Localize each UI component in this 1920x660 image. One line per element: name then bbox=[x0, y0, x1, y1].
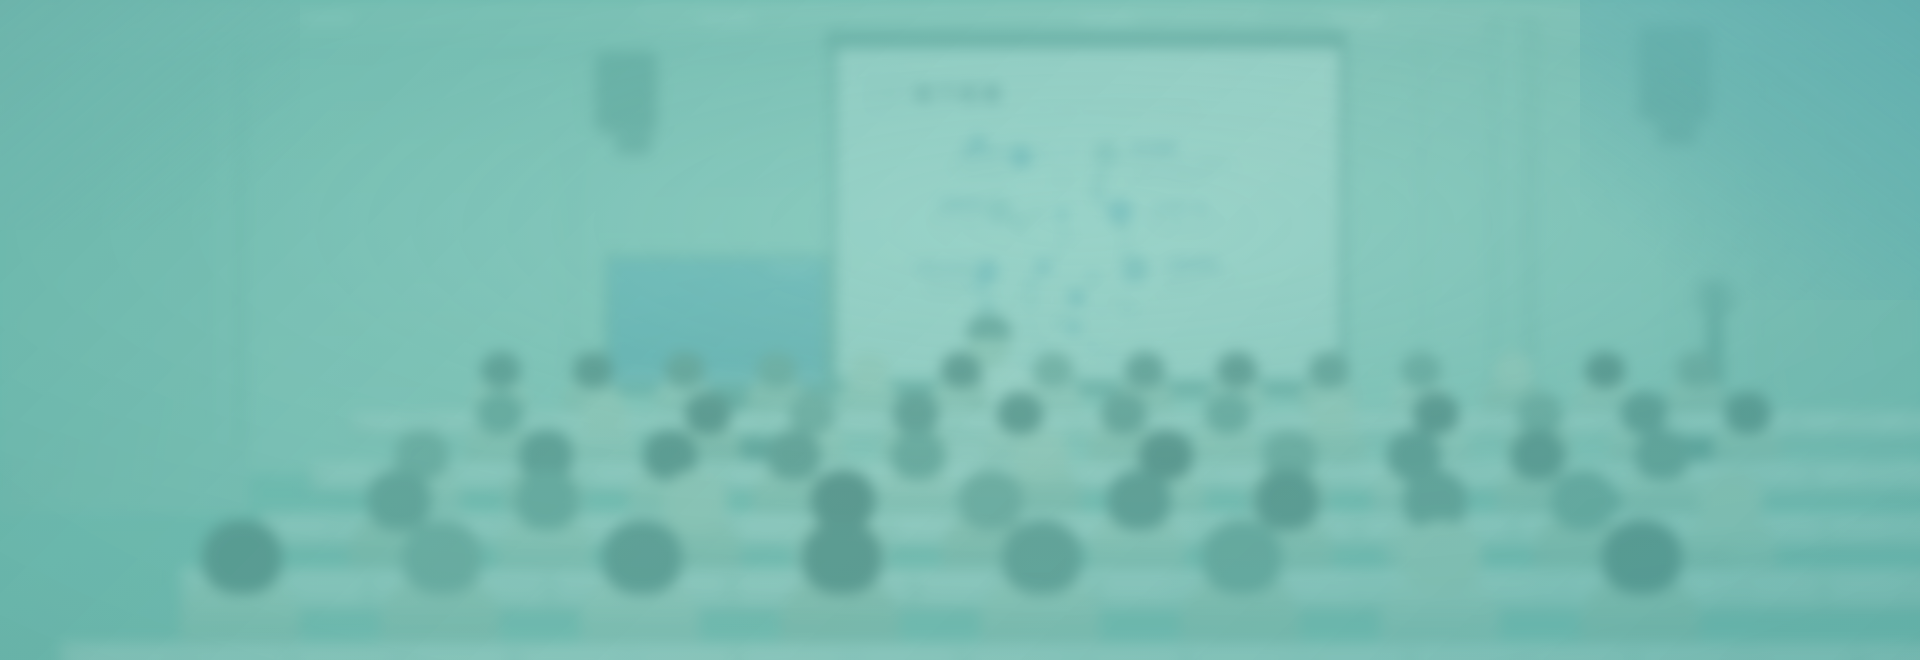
cluster-dot bbox=[1062, 279, 1065, 282]
audience-member bbox=[380, 520, 500, 660]
audience-member bbox=[1580, 520, 1700, 660]
speaker-mount bbox=[1658, 114, 1696, 142]
presentation-slide: 1.0 线下拓客 OFFLINE CUSTOMER EXPANSION 团队合作… bbox=[836, 48, 1340, 380]
cluster-dot bbox=[1097, 171, 1100, 174]
slide-item-4: 异业联盟1、全店打折赠体验卡、免费洗脸体验 2、服装、美甲、咖啡店、蛋糕店、母 … bbox=[1132, 140, 1250, 187]
audience-head bbox=[941, 352, 981, 388]
wall-pillar bbox=[208, 40, 244, 440]
ceiling-light bbox=[700, 16, 754, 23]
audience-head bbox=[1621, 392, 1667, 434]
audience-member bbox=[1380, 520, 1500, 660]
audience-head bbox=[1602, 520, 1682, 594]
audience-head bbox=[1125, 352, 1165, 388]
audience-head bbox=[1002, 520, 1082, 594]
cluster-dot bbox=[1123, 271, 1135, 283]
slide-item-desc: 与异业商家合作引流， 互相导流共享客源 bbox=[888, 162, 1006, 182]
audience-head bbox=[1309, 352, 1349, 388]
slide-bubble-4: 4 bbox=[1094, 142, 1118, 166]
cluster-dot bbox=[1066, 319, 1081, 334]
cluster-dot bbox=[978, 279, 989, 290]
cluster-dot bbox=[1122, 201, 1135, 214]
cluster-dot bbox=[1066, 148, 1072, 154]
slide-title: 线下拓客 bbox=[913, 78, 1005, 107]
audience-head bbox=[802, 520, 882, 594]
audience-head bbox=[602, 520, 682, 594]
cluster-dot bbox=[1141, 267, 1145, 271]
audience-head bbox=[1585, 352, 1625, 388]
cluster-dot bbox=[995, 226, 998, 229]
audience-head bbox=[1101, 392, 1147, 434]
cluster-dot bbox=[1016, 300, 1019, 303]
audience-head bbox=[1202, 520, 1282, 594]
desk-emblem bbox=[1716, 574, 1754, 612]
audience-member bbox=[980, 520, 1100, 660]
cluster-dot bbox=[1040, 150, 1050, 160]
slide-item-title: 免费祛斑 bbox=[866, 196, 984, 211]
cluster-dot bbox=[1117, 223, 1131, 237]
cluster-dot bbox=[1099, 309, 1104, 314]
ceiling-light bbox=[1330, 16, 1384, 23]
audience-head bbox=[573, 352, 613, 388]
cluster-dot bbox=[1045, 285, 1050, 290]
cluster-dot bbox=[984, 262, 989, 267]
audience-head bbox=[1725, 392, 1771, 434]
audience-head bbox=[685, 392, 731, 434]
cluster-dot bbox=[1019, 224, 1028, 233]
slide-item-5: 公交车广告线下广告宣传，公交车站广告 性价比最高的宣传方式 bbox=[1152, 200, 1270, 238]
cluster-dot bbox=[1129, 243, 1132, 246]
speaker-icon bbox=[596, 52, 656, 130]
slide-item-title: 公交车广告 bbox=[1152, 200, 1270, 215]
cluster-dot bbox=[1065, 182, 1068, 185]
cluster-dot bbox=[1025, 278, 1037, 290]
slide-item-desc: 派发社区大礼包， 精准锁定周边客户 bbox=[854, 278, 972, 298]
audience-member bbox=[580, 520, 700, 660]
audience-head bbox=[1677, 352, 1717, 388]
cluster-dot bbox=[1052, 251, 1059, 258]
cluster-dot bbox=[991, 147, 1001, 157]
cluster-dot bbox=[1035, 259, 1051, 275]
cluster-dot bbox=[1119, 154, 1129, 164]
cluster-dot bbox=[1133, 303, 1139, 309]
slide-number: 1.0 bbox=[866, 74, 902, 110]
slide-item-6: 大量加微信创造机会，添加客户微信， 善用可视营销 bbox=[1164, 256, 1282, 294]
slide-item-3: 团队合作与异业商家合作引流， 互相导流共享客源 bbox=[888, 144, 1006, 182]
audience-head bbox=[1402, 520, 1482, 594]
cluster-dot bbox=[1093, 210, 1096, 213]
slide-item-title: 团队合作 bbox=[888, 144, 1006, 159]
cluster-dot bbox=[1044, 320, 1048, 324]
audience-head bbox=[1401, 352, 1441, 388]
audience-head bbox=[481, 352, 521, 388]
cluster-dot bbox=[1025, 295, 1037, 307]
slide-item-title: 社区大礼包 bbox=[854, 260, 972, 275]
cluster-dot bbox=[1090, 309, 1093, 312]
slide-header: 1.0 线下拓客 bbox=[866, 74, 1005, 110]
cluster-dot bbox=[969, 210, 973, 214]
cluster-dot bbox=[1069, 232, 1075, 238]
cluster-dot bbox=[1056, 211, 1065, 220]
speaker-mount bbox=[616, 126, 650, 152]
slide-item-title: 异业联盟 bbox=[1132, 140, 1250, 155]
slide-item-desc: 创造机会，添加客户微信， 善用可视营销 bbox=[1164, 274, 1282, 294]
cluster-dot bbox=[1139, 342, 1148, 351]
cluster-dot bbox=[978, 268, 982, 272]
audience-head bbox=[1217, 352, 1257, 388]
cluster-dot bbox=[1028, 241, 1035, 248]
desk-emblem bbox=[1887, 514, 1920, 552]
cluster-dot bbox=[1112, 298, 1120, 306]
tv-brand-logo bbox=[770, 266, 814, 271]
audience-head bbox=[1413, 392, 1459, 434]
slide-item-desc: 线下广告宣传，公交车站广告 性价比最高的宣传方式 bbox=[1152, 218, 1270, 238]
cluster-dot bbox=[1087, 272, 1098, 283]
cluster-dot bbox=[1102, 319, 1105, 322]
cluster-dot bbox=[1119, 296, 1123, 300]
audience-head bbox=[581, 392, 627, 434]
audience-head bbox=[1517, 392, 1563, 434]
room-photograph: 1.0 线下拓客 OFFLINE CUSTOMER EXPANSION 团队合作… bbox=[0, 0, 1920, 660]
audience-head bbox=[757, 352, 797, 388]
slide-item-1: 社区大礼包派发社区大礼包， 精准锁定周边客户 bbox=[854, 260, 972, 298]
cluster-dot bbox=[1054, 316, 1065, 327]
cluster-dot bbox=[1103, 291, 1109, 297]
audience-head bbox=[893, 392, 939, 434]
cluster-dot bbox=[1135, 312, 1139, 316]
cluster-dot bbox=[1067, 200, 1070, 203]
cluster-dot bbox=[1068, 289, 1085, 306]
desk-panel bbox=[1866, 650, 1920, 660]
slide-item-2: 免费祛斑免费体验项目引流， 到店转化 bbox=[866, 196, 984, 234]
audience-head bbox=[1033, 352, 1073, 388]
cluster-dot bbox=[1088, 342, 1097, 351]
audience-member bbox=[1180, 520, 1300, 660]
desk-emblem bbox=[1839, 408, 1877, 446]
audience-head bbox=[849, 352, 889, 388]
seminar-photo-scene: 1.0 线下拓客 OFFLINE CUSTOMER EXPANSION 团队合作… bbox=[0, 0, 1920, 660]
presenter-hair bbox=[966, 315, 1012, 339]
audience-head bbox=[1205, 392, 1251, 434]
audience-head bbox=[789, 392, 835, 434]
slide-item-desc: 1、全店打折赠体验卡、免费洗脸体验 2、服装、美甲、咖啡店、蛋糕店、母 婴等异业… bbox=[1132, 158, 1250, 187]
audience-head bbox=[477, 392, 523, 434]
audience-head bbox=[1309, 392, 1355, 434]
audience-member bbox=[180, 520, 300, 660]
cluster-dot bbox=[1009, 265, 1012, 268]
cluster-dot bbox=[1058, 310, 1061, 313]
cluster-dot bbox=[1036, 252, 1039, 255]
cluster-dot bbox=[1146, 218, 1151, 223]
audience-head bbox=[1493, 352, 1533, 388]
slide-item-desc: 免费体验项目引流， 到店转化 bbox=[866, 214, 984, 234]
cluster-dot bbox=[999, 303, 1004, 308]
audience-member bbox=[780, 520, 900, 660]
speaker-icon bbox=[1640, 26, 1710, 118]
slide-bubble-2: 2 bbox=[986, 198, 1012, 224]
cluster-dot bbox=[1057, 172, 1067, 182]
cluster-dot bbox=[1105, 278, 1109, 282]
slide-bubble-3: 3 bbox=[1010, 146, 1032, 168]
desk-emblem bbox=[1863, 461, 1901, 499]
slide-subtitle: OFFLINE CUSTOMER EXPANSION bbox=[1032, 104, 1198, 111]
audience-head bbox=[515, 470, 579, 530]
ceiling-light bbox=[300, 16, 354, 23]
slide-divider bbox=[866, 120, 1312, 121]
cluster-dot bbox=[1106, 225, 1109, 228]
cluster-dot bbox=[1117, 243, 1130, 256]
desk-emblem bbox=[1534, 574, 1572, 612]
audience-head bbox=[202, 520, 282, 594]
cluster-dot bbox=[1105, 351, 1114, 360]
cluster-dot bbox=[1106, 210, 1112, 216]
audience-head bbox=[1107, 470, 1171, 530]
audience-head bbox=[891, 430, 945, 480]
audience-head bbox=[665, 352, 705, 388]
slide-item-title: 大量加微信 bbox=[1164, 256, 1282, 271]
ceiling-light bbox=[1080, 16, 1134, 23]
audience-head bbox=[1699, 470, 1763, 530]
cluster-dot bbox=[1056, 227, 1070, 241]
cluster-dot bbox=[1122, 301, 1134, 313]
cluster-dot bbox=[1029, 207, 1045, 223]
audience-head bbox=[402, 520, 482, 594]
audience-head bbox=[997, 392, 1043, 434]
